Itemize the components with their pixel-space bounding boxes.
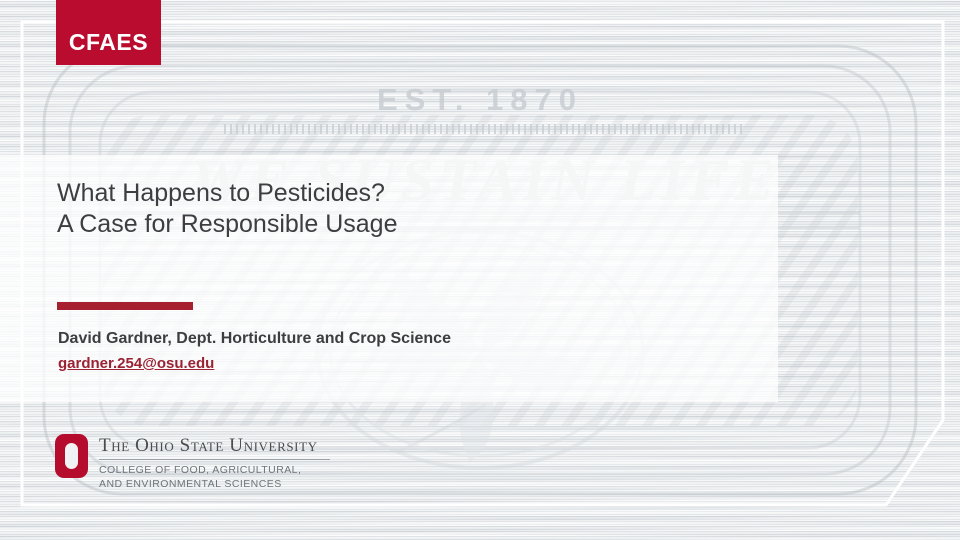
osu-university-mark: The Ohio State University COLLEGE OF FOO…	[55, 434, 330, 491]
page-title: What Happens to Pesticides? A Case for R…	[57, 178, 697, 240]
osu-wordmark-text: The Ohio State University COLLEGE OF FOO…	[99, 434, 330, 491]
presentation-slide: EST. 1870 WE SUSTAIN LIFE CFAES What Hap…	[0, 0, 960, 540]
title-line-2: A Case for Responsible Usage	[57, 209, 697, 240]
author-block: David Gardner, Dept. Horticulture and Cr…	[58, 328, 451, 375]
osu-college-line-1: COLLEGE OF FOOD, AGRICULTURAL,	[99, 464, 330, 478]
cfaes-logo: CFAES	[56, 0, 161, 65]
block-o-icon	[55, 434, 88, 478]
author-name-affiliation: David Gardner, Dept. Horticulture and Cr…	[58, 328, 451, 350]
osu-college-line-2: AND ENVIRONMENTAL SCIENCES	[99, 478, 330, 492]
title-line-1: What Happens to Pesticides?	[57, 178, 697, 209]
osu-divider-rule	[99, 459, 330, 460]
osu-university-name: The Ohio State University	[99, 435, 330, 456]
author-email-link[interactable]: gardner.254@osu.edu	[58, 353, 214, 375]
accent-bar	[57, 302, 193, 310]
cfaes-logo-text: CFAES	[69, 31, 148, 54]
block-o-inner-shape	[65, 443, 78, 469]
